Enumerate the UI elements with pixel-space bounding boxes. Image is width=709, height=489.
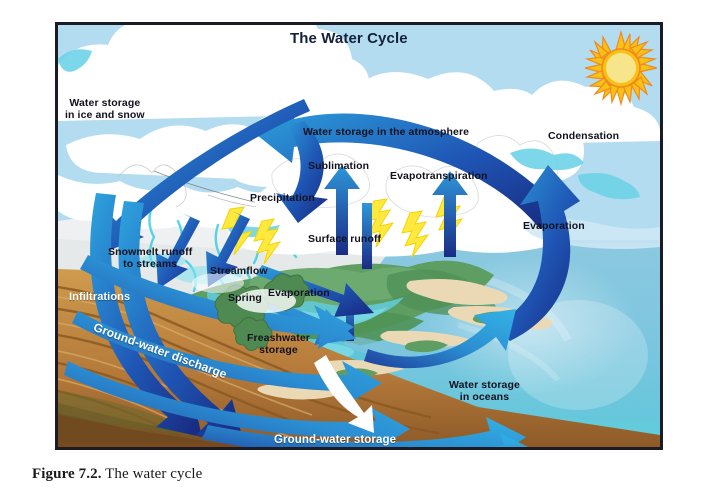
- label-water-storage-ice-snow: Water storage in ice and snow: [65, 98, 145, 122]
- label-freshwater-storage: Freashwater storage: [247, 333, 310, 357]
- label-precipitation: Precipitation: [250, 193, 315, 205]
- label-sublimation: Sublimation: [308, 161, 369, 173]
- label-spring: Spring: [228, 293, 262, 305]
- figure-caption: Figure 7.2. The water cycle: [32, 466, 632, 483]
- water-cycle-scene: The Water Cycle Water storage in ice and…: [58, 25, 660, 447]
- label-water-storage-atmosphere: Water storage in the atmosphere: [303, 127, 469, 139]
- label-streamflow: Streamflow: [210, 266, 268, 278]
- label-condensation: Condensation: [548, 131, 619, 143]
- diagram-title: The Water Cycle: [290, 31, 408, 48]
- label-infiltrations: Infiltrations: [69, 291, 130, 303]
- label-surface-runoff: Surface runoff: [308, 234, 381, 246]
- label-evaporation-ocean: Evaporation: [523, 221, 585, 233]
- water-cycle-figure: The Water Cycle Water storage in ice and…: [55, 22, 663, 450]
- figure-caption-text: The water cycle: [102, 466, 203, 482]
- figure-page: The Water Cycle Water storage in ice and…: [0, 0, 709, 489]
- label-groundwater-storage: Ground-water storage: [274, 434, 396, 447]
- label-water-storage-oceans: Water storage in oceans: [449, 380, 520, 404]
- sun-icon: [585, 32, 657, 104]
- label-snowmelt-runoff: Snowmelt runoff to streams: [108, 247, 192, 271]
- label-evaporation-land: Evaporation: [268, 288, 330, 300]
- figure-caption-label: Figure 7.2.: [32, 466, 102, 482]
- label-evapotranspiration: Evapotranspiration: [390, 171, 487, 183]
